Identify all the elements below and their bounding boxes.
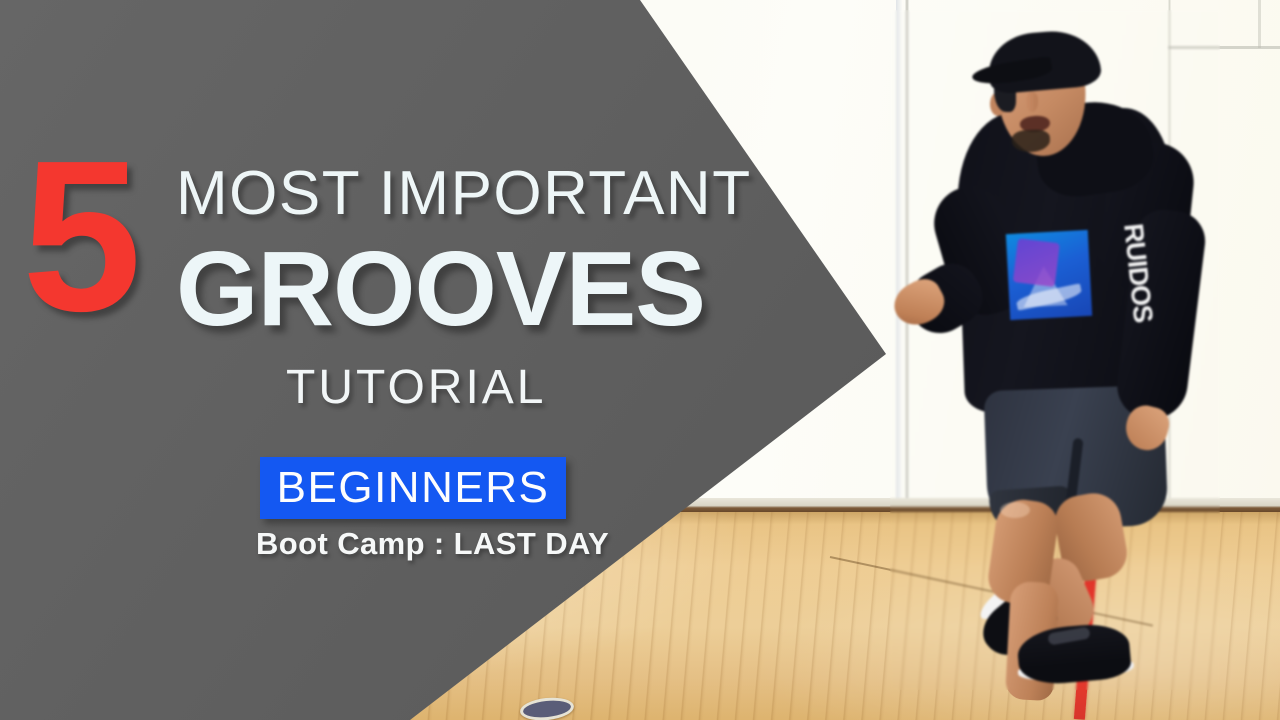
knee-highlight (1000, 502, 1030, 518)
dancer-figure: RUIDOS (890, 10, 1220, 690)
headline-line-tutorial: TUTORIAL (286, 364, 546, 412)
title-text-group: 5 MOST IMPORTANT GROOVES TUTORIAL BEGINN… (0, 0, 900, 720)
headline-number: 5 (22, 148, 132, 324)
headline-line-grooves: GROOVES (176, 236, 705, 342)
thumbnail-canvas: RUIDOS 5 MOST IMPORTA (0, 0, 1280, 720)
beginners-badge: BEGINNERS (260, 457, 566, 519)
beginners-badge-label: BEGINNERS (277, 466, 550, 510)
wall-seam-3 (1258, 0, 1261, 48)
headline-line-most-important: MOST IMPORTANT (176, 163, 752, 225)
bootcamp-subtitle: Boot Camp : LAST DAY (256, 528, 609, 559)
nose (1026, 92, 1038, 112)
